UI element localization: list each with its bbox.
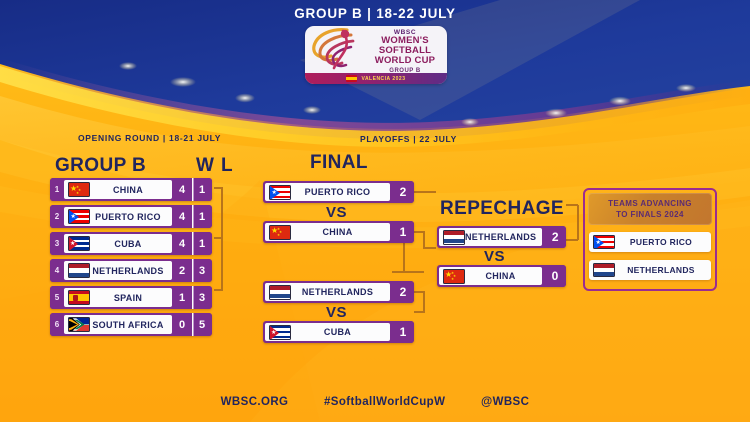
team-name: CUBA — [90, 239, 172, 249]
flag-netherlands-icon — [269, 285, 291, 300]
rank: 1 — [50, 178, 64, 201]
semifinal-home-row[interactable]: NETHERLANDS 2 — [263, 281, 414, 303]
footer: WBSC.ORG #SoftballWorldCupW @WBSC — [0, 396, 750, 408]
logo-line3: WORLD CUP — [365, 56, 445, 66]
team-name: PUERTO RICO — [291, 187, 390, 197]
flag-puerto-rico-icon: ★ — [593, 235, 615, 249]
advancing-team-row[interactable]: NETHERLANDS — [589, 260, 711, 280]
col-l-header: L — [221, 155, 240, 176]
repechage-vs-label: VS — [484, 248, 505, 265]
advancing-heading-line1: TEAMS ADVANCING — [608, 198, 692, 209]
score: 2 — [392, 181, 414, 203]
table-row[interactable]: 1 ★★★★ CHINA 4 1 — [50, 178, 212, 201]
flag-china-icon: ★★★★ — [68, 182, 90, 197]
flag-puerto-rico-icon: ★ — [68, 209, 90, 224]
losses: 1 — [192, 205, 212, 228]
score: 2 — [392, 281, 414, 303]
wins: 4 — [172, 205, 192, 228]
group-b-heading: GROUP B — [55, 155, 146, 177]
team-name: SPAIN — [90, 293, 172, 303]
losses: 3 — [192, 259, 212, 282]
repechage-home-row[interactable]: NETHERLANDS 2 — [437, 226, 566, 248]
footer-website[interactable]: WBSC.ORG — [221, 396, 289, 408]
team-name: PUERTO RICO — [90, 212, 172, 222]
repechage-heading: REPECHAGE — [440, 198, 564, 220]
footer-handle[interactable]: @WBSC — [481, 396, 529, 408]
flag-puerto-rico-icon: ★ — [269, 185, 291, 200]
footer-hashtag[interactable]: #SoftballWorldCupW — [324, 396, 445, 408]
team-name: PUERTO RICO — [615, 237, 711, 247]
final-heading: FINAL — [310, 152, 368, 174]
wins: 1 — [172, 286, 192, 309]
team-name: NETHERLANDS — [465, 232, 542, 242]
team-name: CHINA — [291, 227, 390, 237]
table-row[interactable]: 6 SOUTH AFRICA 0 5 — [50, 313, 212, 336]
flag-netherlands-icon — [68, 263, 90, 278]
final-home-row[interactable]: ★ PUERTO RICO 2 — [263, 181, 414, 203]
final-away-row[interactable]: ★★★★ CHINA 1 — [263, 221, 414, 243]
losses: 3 — [192, 286, 212, 309]
rank: 4 — [50, 259, 64, 282]
semifinal-away-row[interactable]: ★ CUBA 1 — [263, 321, 414, 343]
score: 0 — [544, 265, 566, 287]
team-name: CHINA — [465, 271, 542, 281]
wins: 0 — [172, 313, 192, 336]
page-title: GROUP B | 18-22 JULY — [0, 6, 750, 21]
rank: 3 — [50, 232, 64, 255]
table-row[interactable]: 3 ★ CUBA 4 1 — [50, 232, 212, 255]
flag-spain-icon — [68, 290, 90, 305]
score: 1 — [392, 321, 414, 343]
advancing-heading: TEAMS ADVANCING TO FINALS 2024 — [588, 193, 712, 225]
repechage-away-row[interactable]: ★★★★ CHINA 0 — [437, 265, 566, 287]
final-vs-label: VS — [326, 204, 347, 221]
table-row[interactable]: 2 ★ PUERTO RICO 4 1 — [50, 205, 212, 228]
wl-column-headers: WL — [196, 155, 240, 177]
logo-venue-bar: VALENCIA 2023 — [305, 73, 447, 84]
team-name: CHINA — [90, 185, 172, 195]
advancing-team-row[interactable]: ★ PUERTO RICO — [589, 232, 711, 252]
score: 2 — [544, 226, 566, 248]
flag-netherlands-icon — [443, 230, 465, 245]
event-logo: WBSC WOMEN'S SOFTBALL WORLD CUP GROUP B … — [305, 26, 447, 84]
flag-china-icon: ★★★★ — [443, 269, 465, 284]
flag-cuba-icon: ★ — [269, 325, 291, 340]
wins: 2 — [172, 259, 192, 282]
table-row[interactable]: 4 NETHERLANDS 2 3 — [50, 259, 212, 282]
rank: 6 — [50, 313, 64, 336]
score: 1 — [392, 221, 414, 243]
playoffs-label: PLAYOFFS | 22 JULY — [360, 134, 457, 144]
flag-cuba-icon: ★ — [68, 236, 90, 251]
rank: 2 — [50, 205, 64, 228]
wins: 4 — [172, 178, 192, 201]
team-name: NETHERLANDS — [291, 287, 390, 297]
losses: 5 — [192, 313, 212, 336]
swirl-icon — [307, 26, 369, 74]
team-name: NETHERLANDS — [615, 265, 711, 275]
losses: 1 — [192, 178, 212, 201]
semifinal-vs-label: VS — [326, 304, 347, 321]
rank: 5 — [50, 286, 64, 309]
flag-china-icon: ★★★★ — [269, 225, 291, 240]
team-name: CUBA — [291, 327, 390, 337]
advancing-heading-line2: TO FINALS 2024 — [616, 209, 684, 220]
losses: 1 — [192, 232, 212, 255]
flag-netherlands-icon — [593, 263, 615, 277]
team-name: SOUTH AFRICA — [90, 320, 172, 330]
wins: 4 — [172, 232, 192, 255]
table-row[interactable]: 5 SPAIN 1 3 — [50, 286, 212, 309]
flag-south-africa-icon — [68, 317, 90, 332]
logo-venue: VALENCIA 2023 — [361, 76, 405, 82]
opening-round-label: OPENING ROUND | 18-21 JULY — [78, 133, 221, 143]
col-w-header: W — [196, 155, 221, 176]
team-name: NETHERLANDS — [90, 266, 172, 276]
flag-spain-icon — [346, 75, 357, 82]
